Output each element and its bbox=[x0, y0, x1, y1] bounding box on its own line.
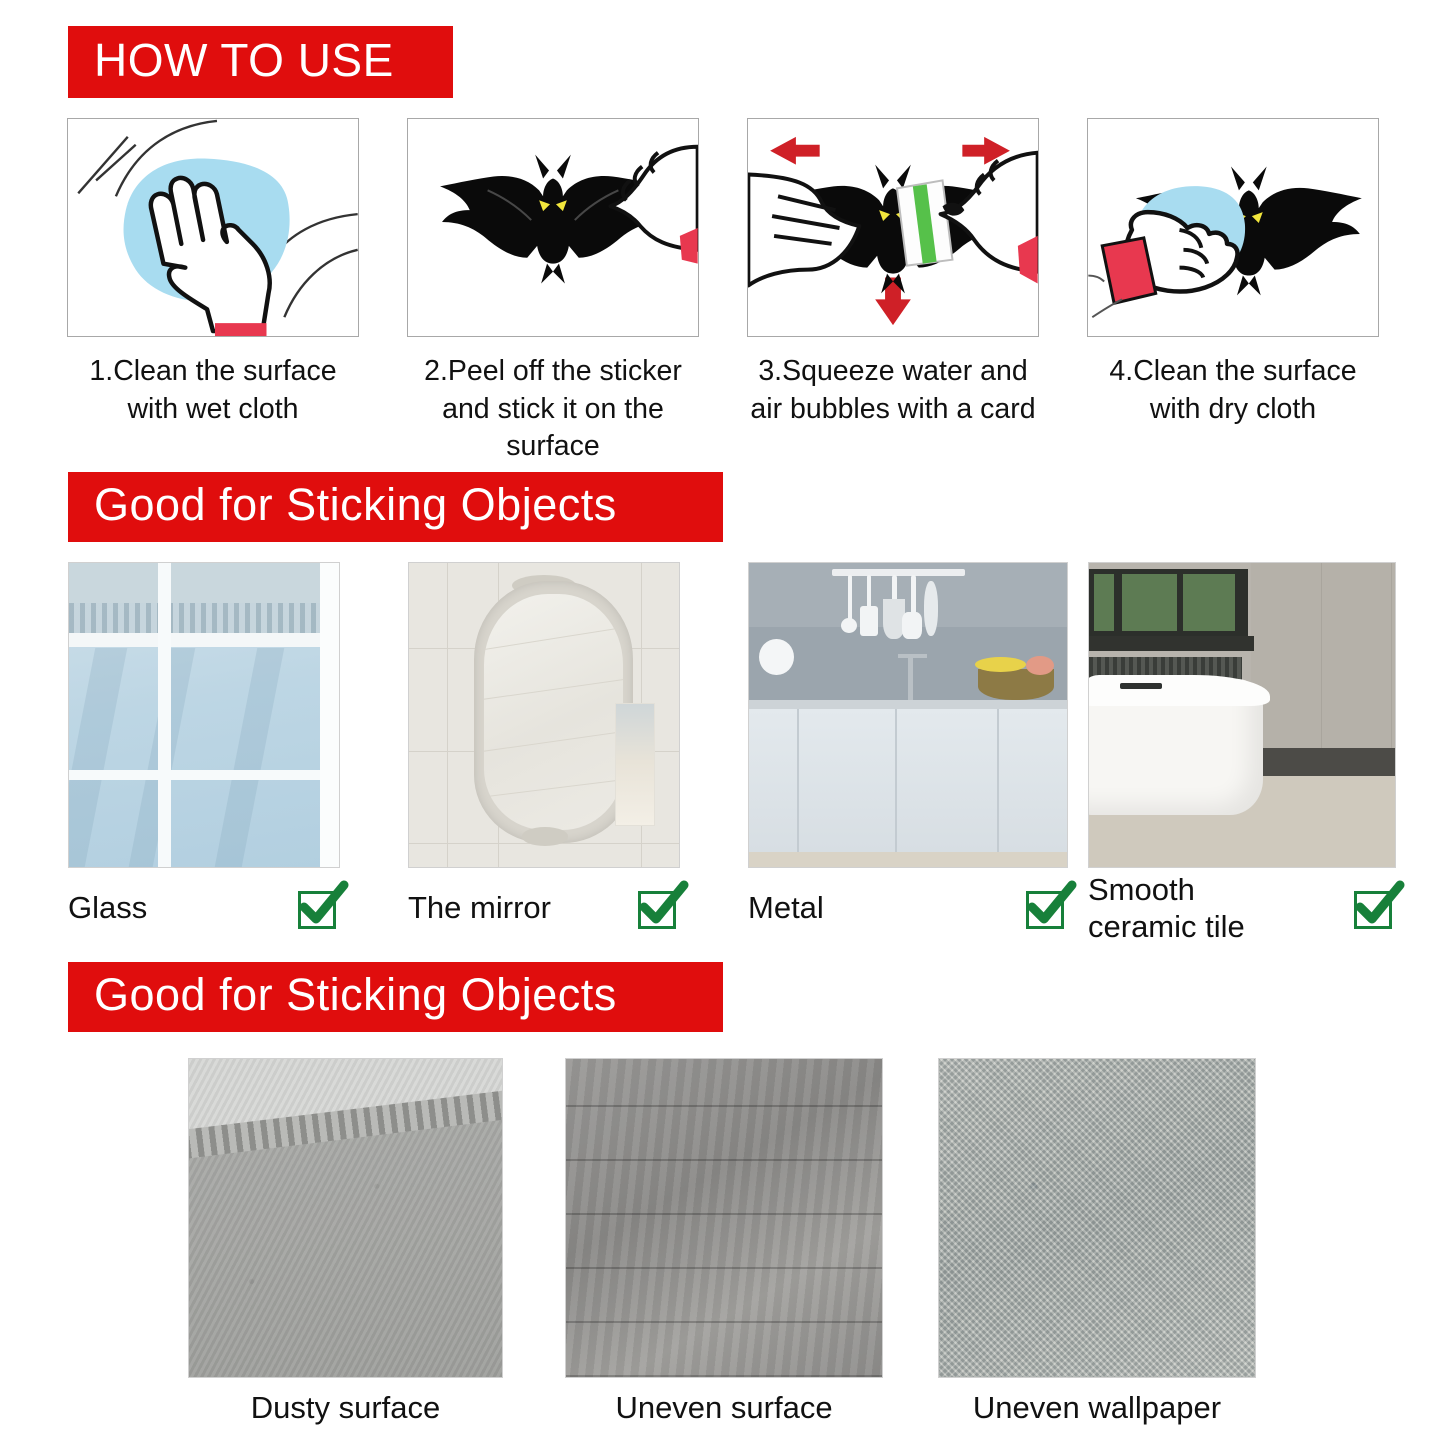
check-icon bbox=[1024, 879, 1080, 935]
metal-photo bbox=[748, 562, 1068, 868]
step-2-caption: 2.Peel off the sticker and stick it on t… bbox=[407, 353, 699, 466]
ceramic-tile-label: Smooth ceramic tile bbox=[1088, 871, 1245, 945]
mirror-checkbox[interactable] bbox=[638, 887, 680, 929]
good-for-sticking-banner-1: Good for Sticking Objects bbox=[68, 472, 723, 542]
uneven-wallpaper-photo bbox=[938, 1058, 1256, 1378]
uneven-surface-photo bbox=[565, 1058, 883, 1378]
ceramic-tile-photo bbox=[1088, 562, 1396, 868]
step-4-illustration bbox=[1087, 118, 1379, 337]
ceramic-tile-label-row: Smooth ceramic tile bbox=[1088, 872, 1396, 944]
glass-photo bbox=[68, 562, 340, 868]
ceramic-tile-checkbox[interactable] bbox=[1354, 887, 1396, 929]
step-3-illustration bbox=[747, 118, 1039, 337]
arrow-down-icon bbox=[875, 278, 911, 326]
glass-label: Glass bbox=[68, 889, 147, 926]
squeegee-card-icon bbox=[897, 180, 952, 265]
step-2: 2.Peel off the sticker and stick it on t… bbox=[407, 118, 699, 466]
step-1: 1.Clean the surface with wet cloth bbox=[67, 118, 359, 428]
good-surface-mirror: The mirror bbox=[408, 562, 680, 868]
dusty-surface-photo bbox=[188, 1058, 503, 1378]
mirror-label: The mirror bbox=[408, 889, 551, 926]
good-surface-metal: Metal bbox=[748, 562, 1068, 868]
step-2-illustration bbox=[407, 118, 699, 337]
uneven-wallpaper-label: Uneven wallpaper bbox=[938, 1390, 1256, 1426]
arrow-left-icon bbox=[770, 137, 820, 165]
bad-surface-uneven: Uneven surface bbox=[565, 1058, 883, 1378]
glass-label-row: Glass bbox=[68, 880, 340, 936]
good-for-sticking-title-1: Good for Sticking Objects bbox=[94, 479, 617, 531]
mirror-photo bbox=[408, 562, 680, 868]
hand-wiping-wet-cloth-icon bbox=[68, 119, 358, 336]
metal-checkbox[interactable] bbox=[1026, 887, 1068, 929]
check-icon bbox=[636, 879, 692, 935]
good-surface-ceramic-tile: Smooth ceramic tile bbox=[1088, 562, 1396, 868]
uneven-surface-label: Uneven surface bbox=[565, 1390, 883, 1426]
metal-label: Metal bbox=[748, 889, 824, 926]
check-icon bbox=[1352, 879, 1408, 935]
metal-label-row: Metal bbox=[748, 880, 1068, 936]
step-4: 4.Clean the surface with dry cloth bbox=[1087, 118, 1379, 428]
step-4-caption: 4.Clean the surface with dry cloth bbox=[1087, 353, 1379, 428]
how-to-use-title: HOW TO USE bbox=[94, 33, 394, 87]
check-icon bbox=[296, 879, 352, 935]
dry-cloth-wipe-bat-icon bbox=[1088, 119, 1378, 336]
glass-checkbox[interactable] bbox=[298, 887, 340, 929]
step-3-caption: 3.Squeeze water and air bubbles with a c… bbox=[747, 353, 1039, 428]
good-for-sticking-title-2: Good for Sticking Objects bbox=[94, 969, 617, 1021]
peel-bat-sticker-icon bbox=[408, 119, 698, 336]
step-1-caption: 1.Clean the surface with wet cloth bbox=[67, 353, 359, 428]
step-3: 3.Squeeze water and air bubbles with a c… bbox=[747, 118, 1039, 428]
bad-surface-wallpaper: Uneven wallpaper bbox=[938, 1058, 1256, 1378]
good-for-sticking-banner-2: Good for Sticking Objects bbox=[68, 962, 723, 1032]
squeegee-card-arrows-icon bbox=[748, 119, 1038, 336]
mirror-label-row: The mirror bbox=[408, 880, 680, 936]
good-surface-glass: Glass bbox=[68, 562, 340, 868]
arrow-right-icon bbox=[962, 137, 1010, 165]
step-1-illustration bbox=[67, 118, 359, 337]
how-to-use-banner: HOW TO USE bbox=[68, 26, 453, 98]
dusty-surface-label: Dusty surface bbox=[188, 1390, 503, 1426]
bad-surface-dusty: Dusty surface bbox=[188, 1058, 503, 1378]
